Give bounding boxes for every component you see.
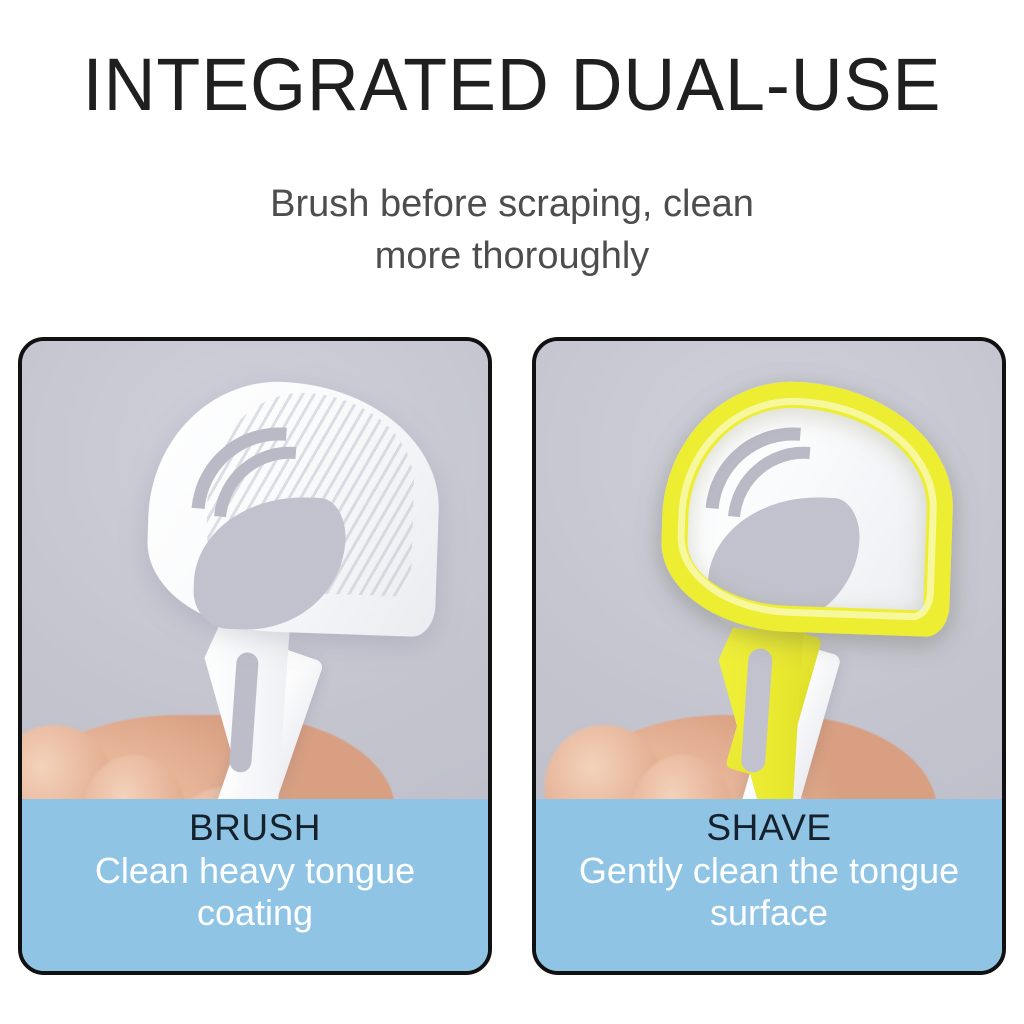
brush-caption-desc-line-1: Clean heavy tongue (22, 850, 488, 892)
product-panels: BRUSH Clean heavy tongue coating (18, 337, 1006, 975)
page-subtitle-line-1: Brush before scraping, clean (162, 178, 862, 230)
infographic-page: INTEGRATED DUAL-USE Brush before scrapin… (0, 0, 1024, 1024)
shave-caption-title: SHAVE (536, 807, 1002, 850)
brush-caption-band: BRUSH Clean heavy tongue coating (22, 799, 488, 971)
shave-caption-desc-line-1: Gently clean the tongue (536, 850, 1002, 892)
page-subtitle: Brush before scraping, clean more thorou… (162, 178, 862, 283)
brush-head (104, 362, 472, 805)
shave-caption-band: SHAVE Gently clean the tongue surface (536, 799, 1002, 971)
scraper-head (618, 362, 986, 805)
brush-caption-title: BRUSH (22, 807, 488, 850)
shave-caption-desc-line-2: surface (536, 892, 1002, 934)
panel-shave: SHAVE Gently clean the tongue surface (532, 337, 1006, 975)
page-subtitle-line-2: more thoroughly (162, 230, 862, 282)
brush-caption-desc-line-2: coating (22, 892, 488, 934)
page-title: INTEGRATED DUAL-USE (15, 48, 1008, 122)
panel-brush: BRUSH Clean heavy tongue coating (18, 337, 492, 975)
